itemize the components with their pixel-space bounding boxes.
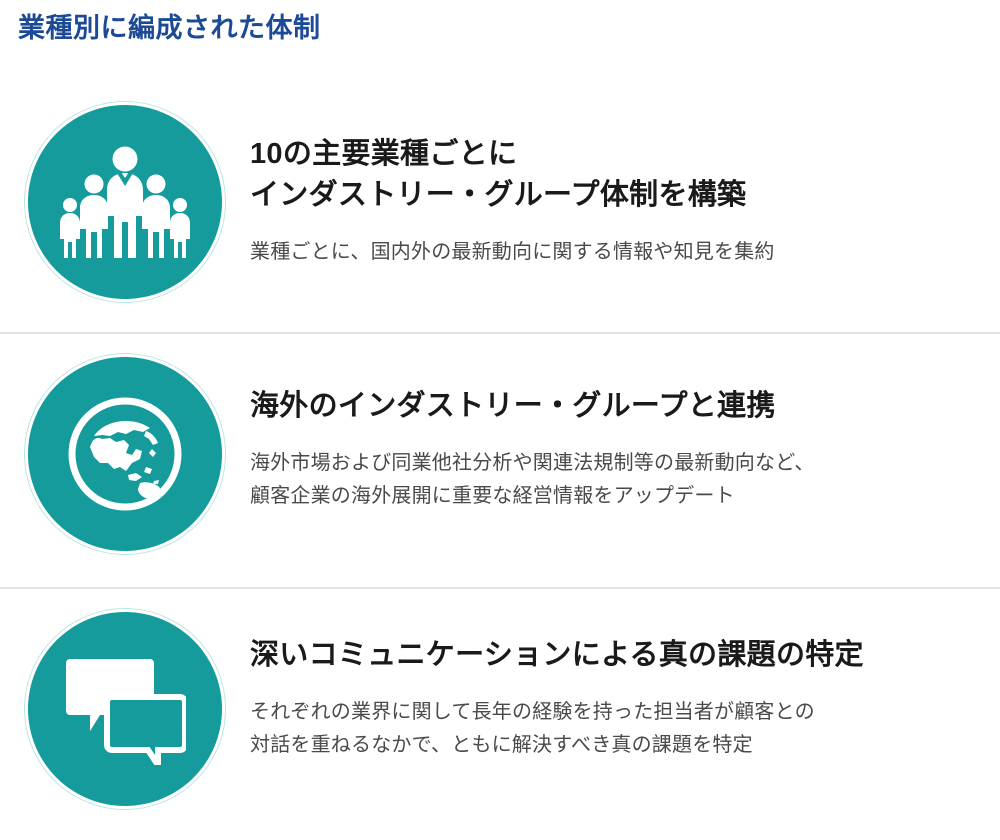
heading-line: インダストリー・グループ体制を構築 — [250, 175, 960, 216]
description-line: 業種ごとに、国内外の最新動向に関する情報や知見を集約 — [250, 236, 960, 268]
icon-circle — [28, 357, 222, 551]
section-description: それぞれの業界に関して長年の経験を持った担当者が顧客との 対話を重ねるなかで、と… — [250, 696, 960, 761]
section-description: 業種ごとに、国内外の最新動向に関する情報や知見を集約 — [250, 236, 960, 268]
heading-line: 海外のインダストリー・グループと連携 — [250, 386, 960, 427]
description-line: 海外市場および同業他社分析や関連法規制等の最新動向など、 — [250, 447, 960, 479]
heading-line: 深いコミュニケーションによる真の課題の特定 — [250, 635, 960, 676]
icon-container — [0, 96, 250, 299]
section-heading: 10の主要業種ごとに インダストリー・グループ体制を構築 — [250, 134, 960, 216]
icon-container — [0, 603, 250, 806]
section-description: 海外市場および同業他社分析や関連法規制等の最新動向など、 顧客企業の海外展開に重… — [250, 447, 960, 512]
globe-icon — [66, 395, 184, 513]
section-content: 深いコミュニケーションによる真の課題の特定 それぞれの業界に関して長年の経験を持… — [250, 603, 1000, 761]
section-content: 10の主要業種ごとに インダストリー・グループ体制を構築 業種ごとに、国内外の最… — [250, 96, 1000, 269]
speech-bubbles-icon — [64, 653, 186, 765]
people-group-icon — [60, 142, 190, 262]
heading-line: 10の主要業種ごとに — [250, 134, 960, 175]
feature-section-industry-groups: 10の主要業種ごとに インダストリー・グループ体制を構築 業種ごとに、国内外の最… — [0, 96, 1000, 333]
icon-circle — [28, 612, 222, 806]
feature-section-deep-communication: 深いコミュニケーションによる真の課題の特定 それぞれの業界に関して長年の経験を持… — [0, 603, 1000, 840]
section-heading: 深いコミュニケーションによる真の課題の特定 — [250, 635, 960, 676]
description-line: それぞれの業界に関して長年の経験を持った担当者が顧客との — [250, 696, 960, 728]
page-title: 業種別に編成された体制 — [18, 12, 321, 44]
icon-circle — [28, 105, 222, 299]
description-line: 顧客企業の海外展開に重要な経営情報をアップデート — [250, 480, 960, 512]
description-line: 対話を重ねるなかで、ともに解決すべき真の課題を特定 — [250, 729, 960, 761]
section-heading: 海外のインダストリー・グループと連携 — [250, 386, 960, 427]
icon-container — [0, 348, 250, 551]
feature-section-overseas-collaboration: 海外のインダストリー・グループと連携 海外市場および同業他社分析や関連法規制等の… — [0, 348, 1000, 588]
section-content: 海外のインダストリー・グループと連携 海外市場および同業他社分析や関連法規制等の… — [250, 348, 1000, 512]
